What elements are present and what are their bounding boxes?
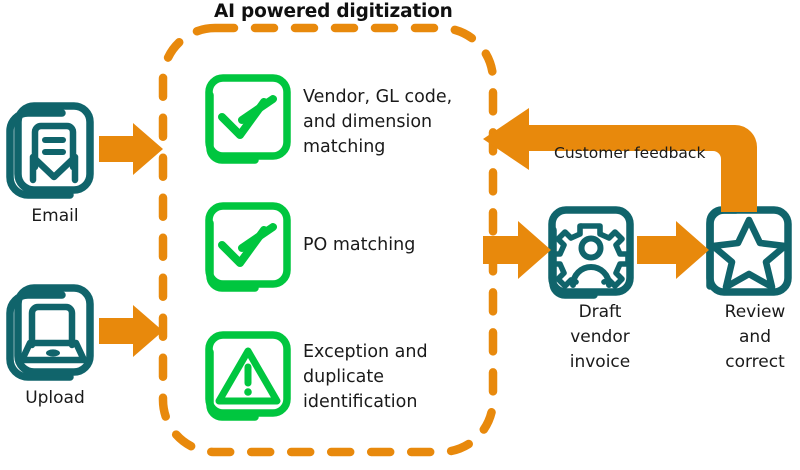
stage-label-draft-vendor-invoice: Draft vendor invoice (545, 300, 655, 375)
source-label-email: Email (0, 206, 110, 226)
ai-digitization-flow-diagram: AI powered digitization Email Upload Ven… (0, 0, 800, 470)
feature-label-vendor-gl-matching: Vendor, GL code, and dimension matching (303, 85, 452, 160)
stage-label-review-and-correct: Review and correct (700, 300, 800, 375)
feature-label-exception-duplicate: Exception and duplicate identification (303, 340, 428, 415)
diagram-text-layer: AI powered digitization Email Upload Ven… (0, 0, 800, 470)
feature-label-po-matching: PO matching (303, 233, 415, 258)
page-title: AI powered digitization (214, 1, 453, 22)
source-label-upload: Upload (0, 388, 110, 408)
customer-feedback-label: Customer feedback (554, 144, 705, 162)
